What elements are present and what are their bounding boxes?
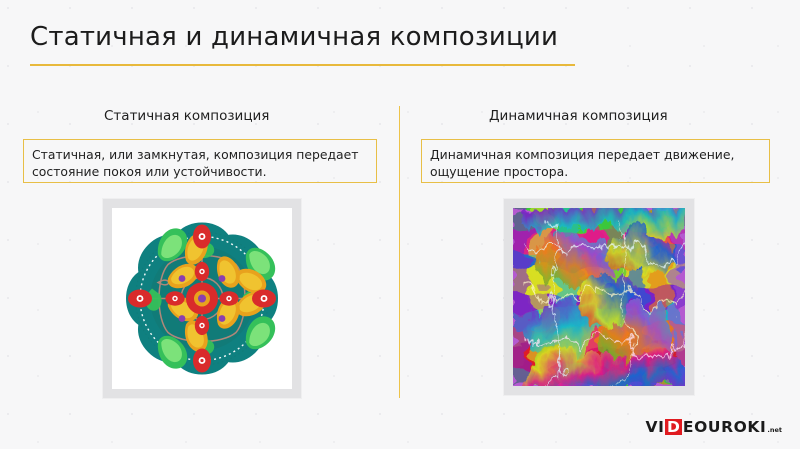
right-callout-text: Динамичная композиция передает движение,…	[430, 146, 761, 180]
right-column-heading: Динамичная композиция	[489, 108, 668, 124]
left-column-heading: Статичная композиция	[104, 108, 269, 124]
static-composition-mandala-icon	[112, 208, 292, 389]
videouroki-logo: VIDEOUROKI.net	[645, 419, 782, 435]
right-callout-box: Динамичная композиция передает движение,…	[421, 139, 770, 183]
logo-text-tld: .net	[767, 426, 782, 434]
page-title: Статичная и динамичная композиции	[30, 20, 558, 54]
logo-text-part1: VI	[645, 419, 664, 435]
logo-text-highlight: D	[665, 419, 682, 435]
left-callout-box: Статичная, или замкнутая, композиция пер…	[23, 139, 377, 183]
title-underline-divider	[30, 64, 575, 66]
column-divider	[399, 106, 400, 398]
slide-canvas: Статичная и динамичная композиции Статич…	[0, 0, 800, 449]
left-picture-frame	[103, 199, 301, 398]
right-picture-inner	[513, 208, 685, 386]
right-picture-frame	[504, 199, 694, 395]
dynamic-composition-abstract-icon	[513, 208, 685, 386]
left-picture-inner	[112, 208, 292, 389]
left-callout-text: Статичная, или замкнутая, композиция пер…	[32, 146, 368, 180]
logo-text-part2: EOUROKI	[683, 419, 766, 435]
